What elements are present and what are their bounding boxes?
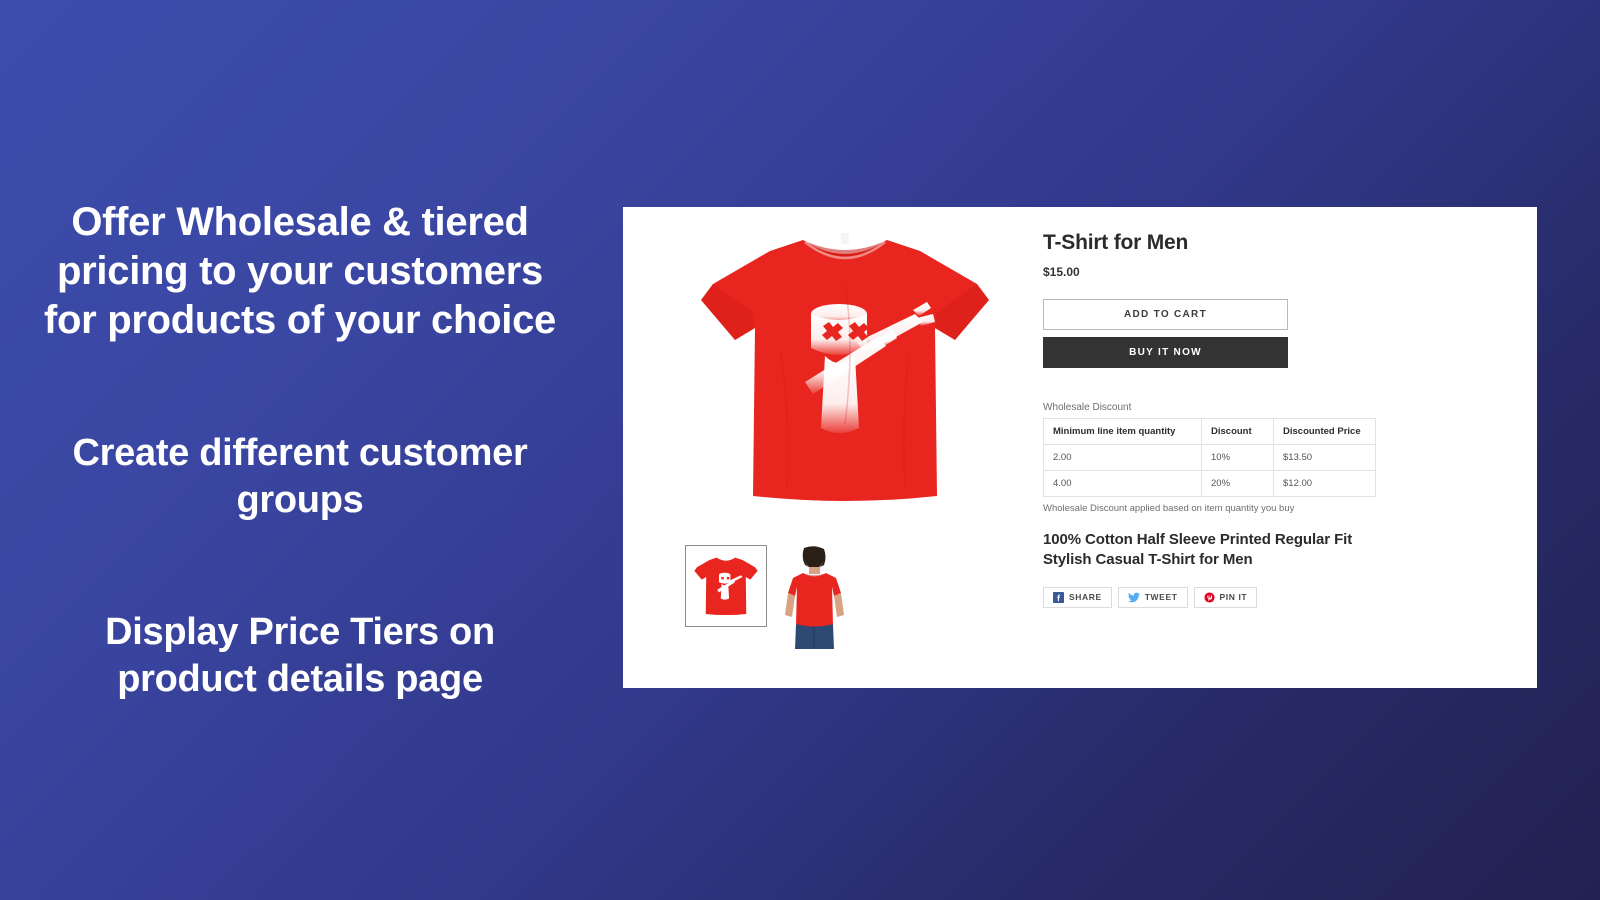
product-description: 100% Cotton Half Sleeve Printed Regular … — [1043, 530, 1373, 570]
share-twitter-label: TWEET — [1145, 592, 1178, 602]
cell-discount: 20% — [1202, 471, 1274, 497]
wholesale-discount-table: Minimum line item quantity Discount Disc… — [1043, 418, 1376, 497]
share-pinterest-button[interactable]: PIN IT — [1194, 587, 1258, 608]
column-header-discount: Discount — [1202, 419, 1274, 445]
tshirt-illustration — [695, 224, 995, 514]
thumbnail-strip — [685, 545, 847, 649]
share-facebook-label: SHARE — [1069, 592, 1102, 602]
wholesale-discount-note: Wholesale Discount applied based on item… — [1043, 503, 1497, 514]
share-pinterest-label: PIN IT — [1220, 592, 1248, 602]
promo-headline-3: Display Price Tiers on product details p… — [40, 609, 560, 702]
cell-quantity: 4.00 — [1044, 471, 1202, 497]
hero-product-image[interactable] — [657, 219, 1033, 519]
add-to-cart-button[interactable]: ADD TO CART — [1043, 299, 1288, 330]
facebook-icon — [1053, 592, 1064, 603]
buy-it-now-button[interactable]: BUY IT NOW — [1043, 337, 1288, 368]
product-details: T-Shirt for Men $15.00 ADD TO CART BUY I… — [1043, 207, 1537, 688]
pinterest-icon — [1204, 592, 1215, 603]
promo-headline-1: Offer Wholesale & tiered pricing to your… — [40, 198, 560, 344]
twitter-icon — [1128, 592, 1140, 603]
table-header-row: Minimum line item quantity Discount Disc… — [1044, 419, 1376, 445]
wholesale-discount-label: Wholesale Discount — [1043, 402, 1497, 413]
promo-panel: Offer Wholesale & tiered pricing to your… — [0, 0, 600, 900]
cell-discounted-price: $12.00 — [1274, 471, 1376, 497]
share-twitter-button[interactable]: TWEET — [1118, 587, 1188, 608]
cell-discounted-price: $13.50 — [1274, 445, 1376, 471]
product-title: T-Shirt for Men — [1043, 231, 1497, 255]
product-card: T-Shirt for Men $15.00 ADD TO CART BUY I… — [623, 207, 1537, 688]
share-facebook-button[interactable]: SHARE — [1043, 587, 1112, 608]
table-row: 4.00 20% $12.00 — [1044, 471, 1376, 497]
column-header-discounted-price: Discounted Price — [1274, 419, 1376, 445]
column-header-quantity: Minimum line item quantity — [1044, 419, 1202, 445]
cell-discount: 10% — [1202, 445, 1274, 471]
product-gallery — [623, 207, 1043, 688]
product-price: $15.00 — [1043, 265, 1497, 279]
model-thumbnail-icon — [781, 545, 847, 649]
thumbnail-tshirt-flat[interactable] — [685, 545, 767, 627]
cell-quantity: 2.00 — [1044, 445, 1202, 471]
table-row: 2.00 10% $13.50 — [1044, 445, 1376, 471]
social-share-row: SHARE TWEET PIN IT — [1043, 587, 1497, 608]
promo-headline-2: Create different customer groups — [40, 430, 560, 523]
wholesale-discount-section: Wholesale Discount Minimum line item qua… — [1043, 402, 1497, 514]
thumbnail-model-wearing-tshirt[interactable] — [781, 545, 847, 649]
tshirt-thumbnail-icon — [693, 553, 759, 619]
